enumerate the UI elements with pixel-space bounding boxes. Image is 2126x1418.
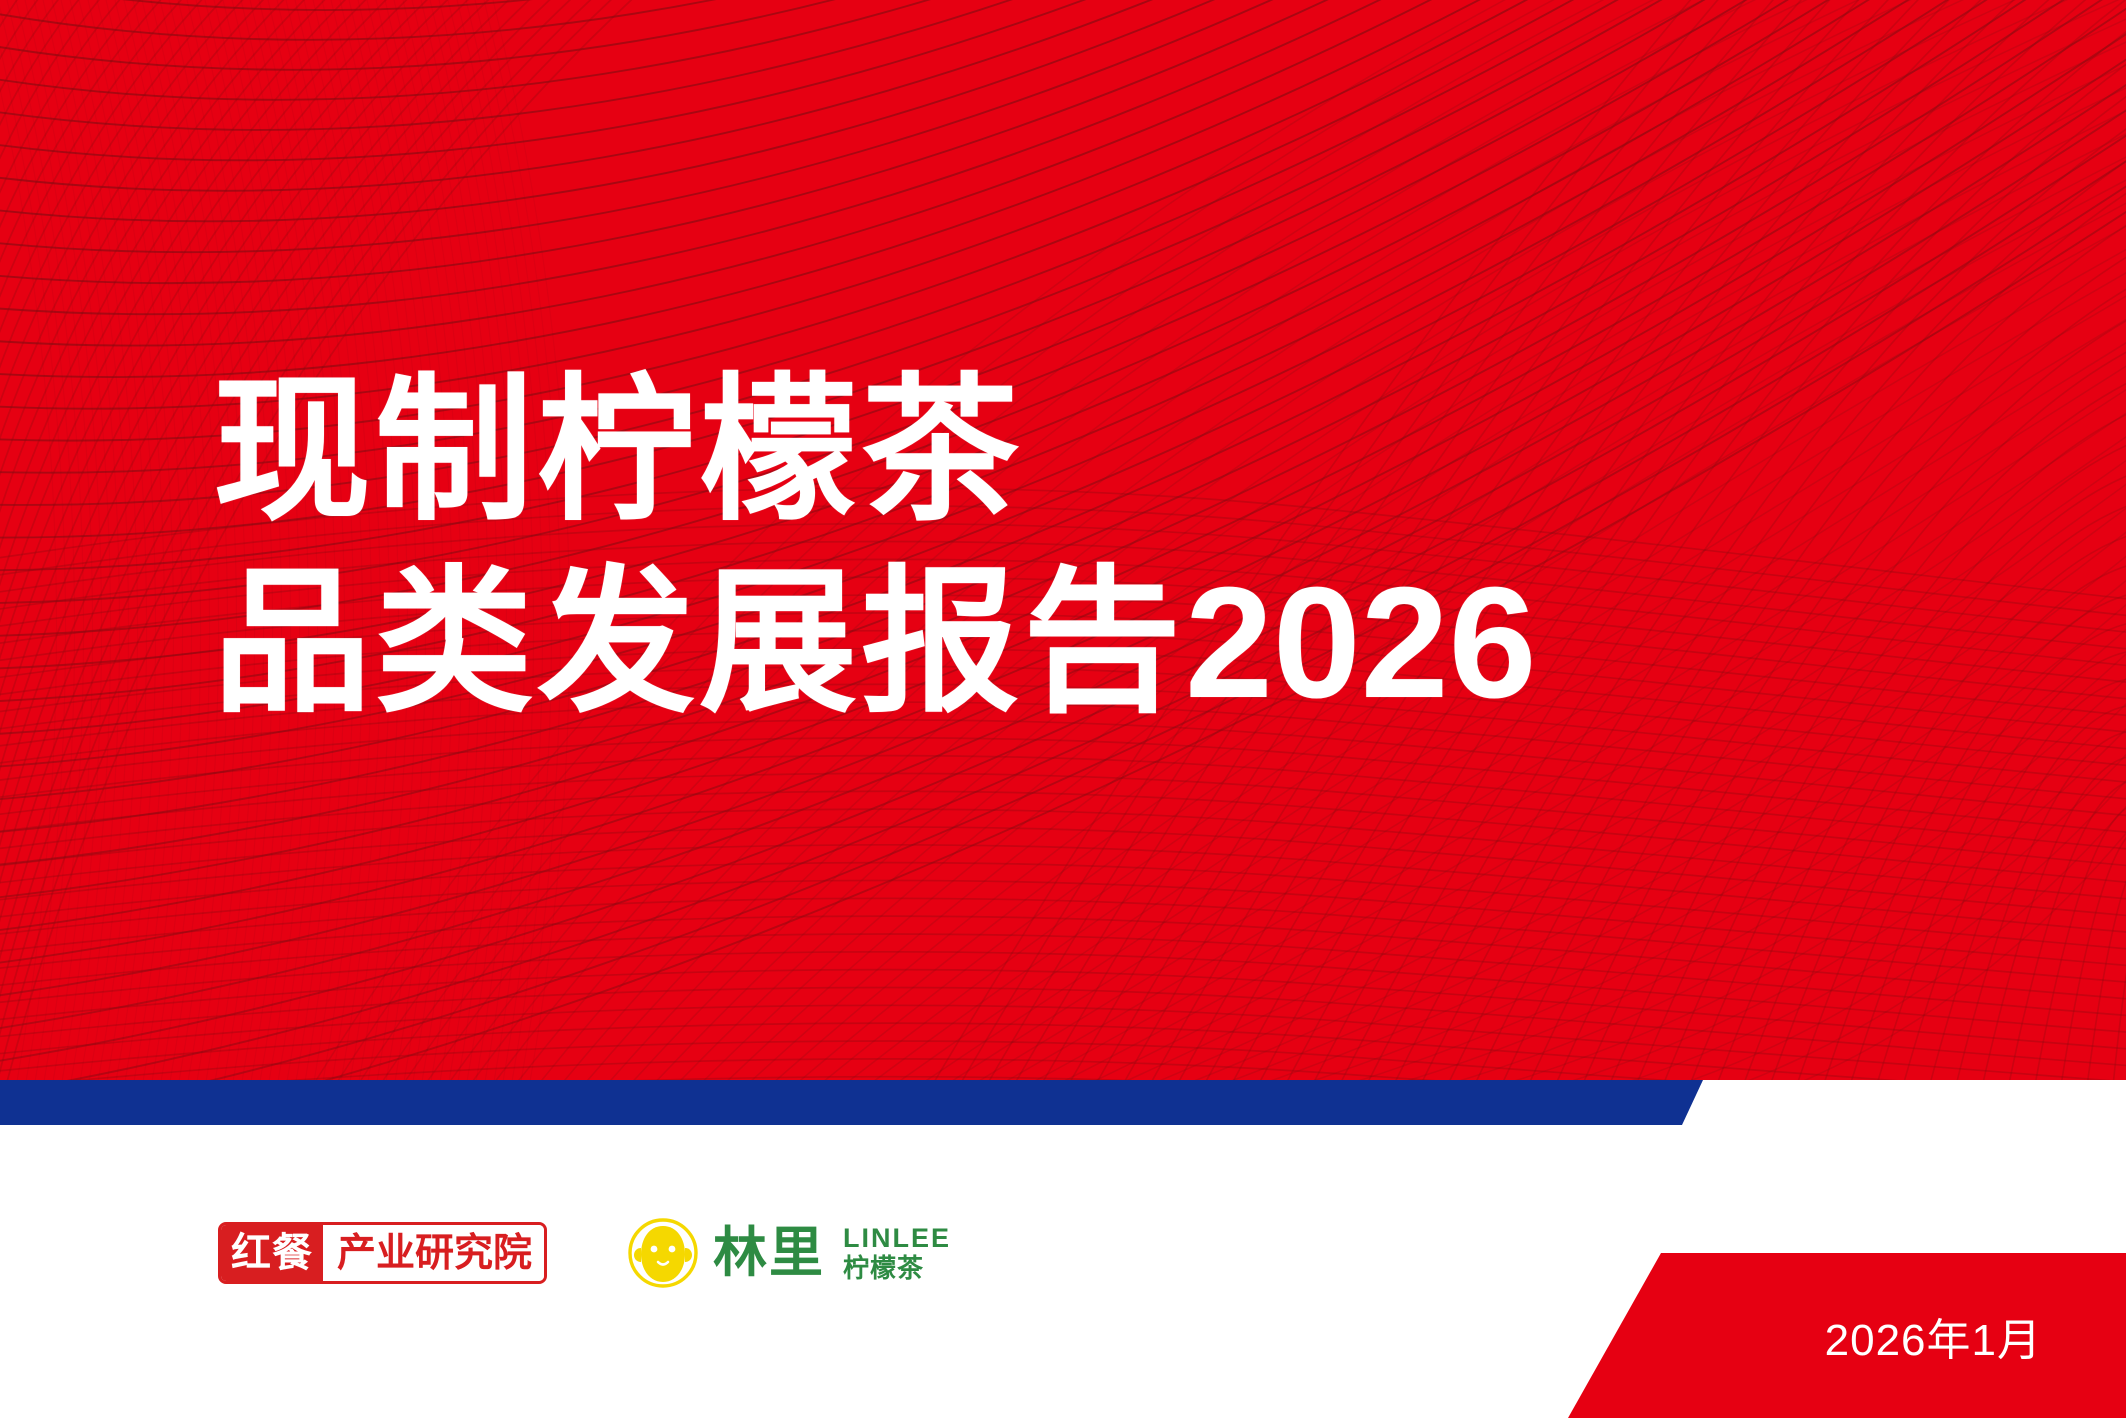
cover-title-block: 现制柠檬茶 品类发展报告2026 xyxy=(213,372,1973,722)
hongcan-logo-name: 产业研究院 xyxy=(323,1225,544,1281)
title-line-2: 品类发展报告2026 xyxy=(213,564,1973,722)
linlee-cn-name: 林里 xyxy=(713,1226,825,1280)
hongcan-logo-mark: 红餐 xyxy=(221,1225,323,1281)
title-year: 2026 xyxy=(1185,555,1537,731)
publication-date-banner: 2026年1月 xyxy=(1560,1253,2126,1418)
blue-accent-bar xyxy=(0,1080,1710,1125)
linlee-en-block: LINLEE 柠檬茶 xyxy=(843,1225,951,1281)
publication-date-label: 2026年1月 xyxy=(1825,1304,2042,1368)
title-line-2-text: 品类发展报告 xyxy=(213,555,1185,731)
linlee-en-name: LINLEE xyxy=(843,1225,951,1252)
title-line-1: 现制柠檬茶 xyxy=(213,372,1973,530)
logo-row: 红餐 产业研究院 林里 LINLEE 柠檬茶 xyxy=(218,1205,951,1301)
lemon-mascot-icon xyxy=(627,1217,699,1289)
linlee-sub-name: 柠檬茶 xyxy=(843,1255,951,1281)
linlee-brand-logo: 林里 LINLEE 柠檬茶 xyxy=(627,1217,951,1289)
hongcan-institute-logo: 红餐 产业研究院 xyxy=(218,1222,547,1284)
report-cover-page: 现制柠檬茶 品类发展报告2026 红餐 产业研究院 林里 LINLEE 柠檬茶 xyxy=(0,0,2126,1418)
